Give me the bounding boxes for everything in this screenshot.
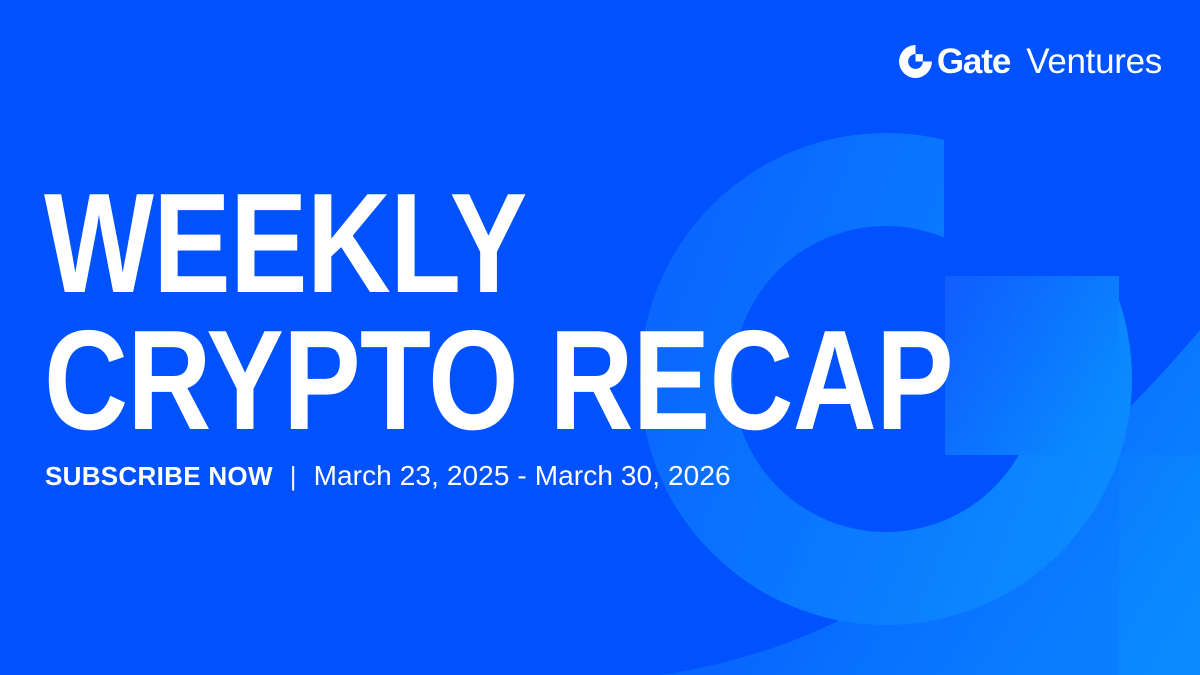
- headline-line-1: WEEKLY: [44, 178, 953, 310]
- subtitle-row: SUBSCRIBE NOW | March 23, 2025 - March 3…: [45, 462, 731, 490]
- brand-logo[interactable]: Gate Ventures: [898, 44, 1162, 79]
- brand-name-gate: Gate: [937, 44, 1010, 79]
- headline: WEEKLY CRYPTO RECAP: [44, 178, 1152, 447]
- gate-circle-g-icon: [898, 44, 933, 79]
- headline-line-2: CRYPTO RECAP: [44, 315, 953, 447]
- brand-name-ventures: Ventures: [1026, 44, 1162, 79]
- date-range-label: March 23, 2025 - March 30, 2026: [314, 462, 731, 490]
- weekly-crypto-recap-banner: Gate Ventures WEEKLY CRYPTO RECAP SUBSCR…: [0, 0, 1200, 675]
- subscribe-now-cta[interactable]: SUBSCRIBE NOW: [45, 463, 273, 489]
- subtitle-separator: |: [290, 463, 297, 489]
